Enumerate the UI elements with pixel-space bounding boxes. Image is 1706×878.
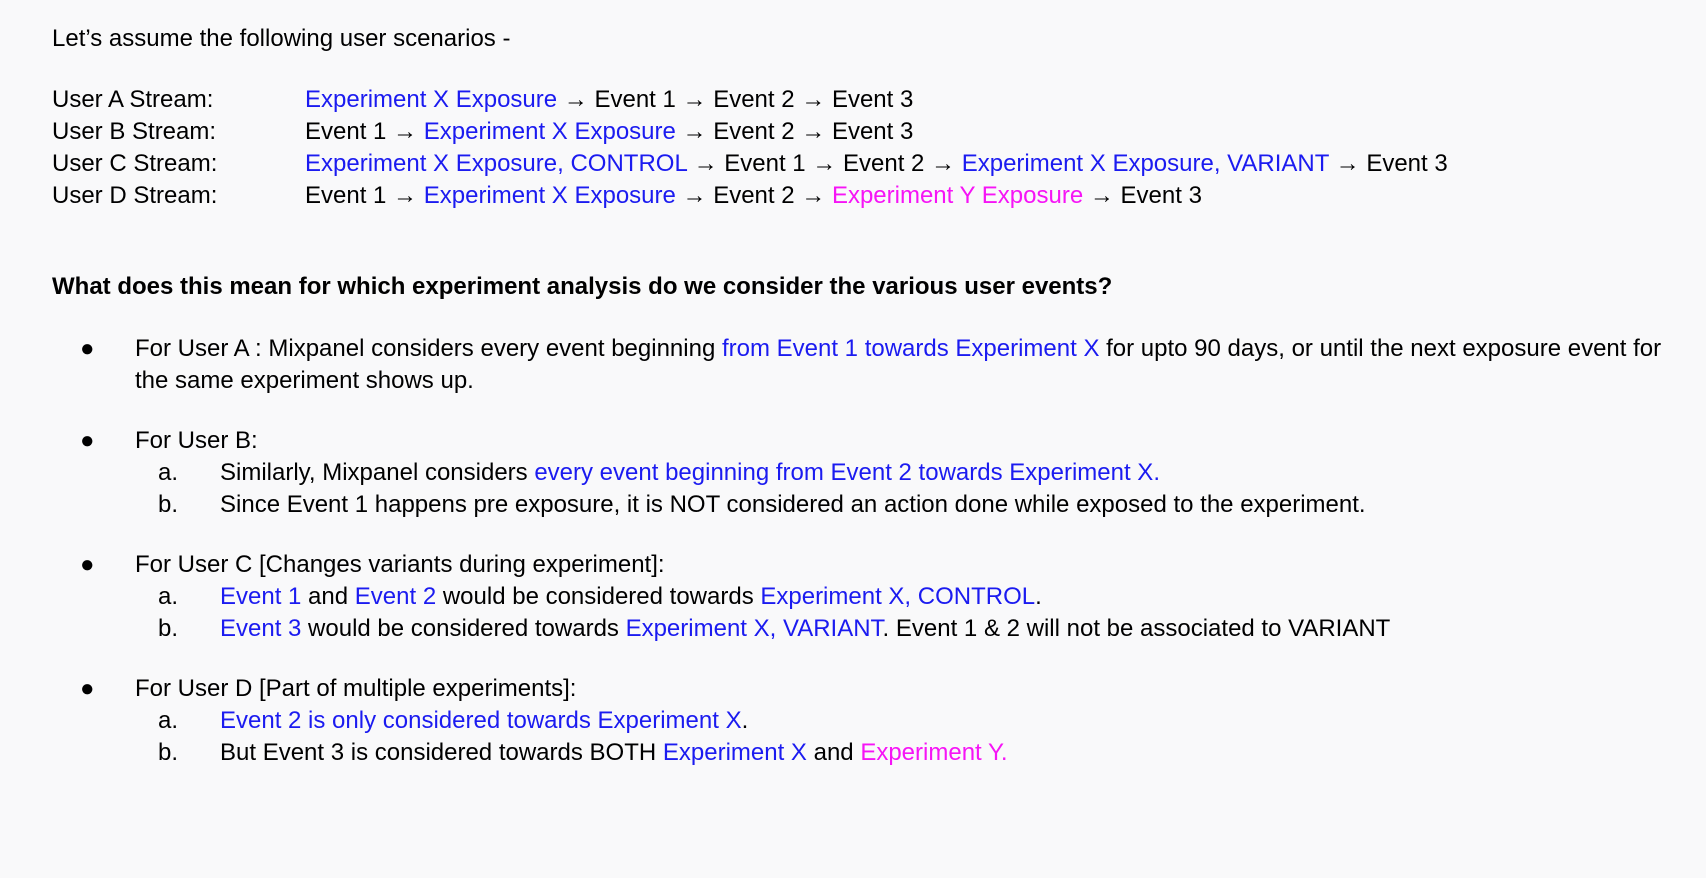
stream-1-segment-0: Event 1 (305, 118, 386, 145)
arrow-separator: → (1329, 150, 1366, 177)
analysis-bullet-list: ●For User A : Mixpanel considers every e… (52, 333, 1682, 769)
bullet-dot-icon: ● (80, 425, 95, 457)
bullet-1-sub-1-segment-0: Since Event 1 happens pre exposure, it i… (220, 491, 1366, 518)
arrow-separator: → (687, 150, 724, 177)
bullet-text-line: ●For User D [Part of multiple experiment… (52, 673, 1682, 705)
bullet-2-segment-0: For User C [Changes variants during expe… (135, 551, 665, 578)
analysis-sub-item: a.Event 2 is only considered towards Exp… (52, 705, 1682, 737)
user-stream-label: User A Stream: (52, 84, 305, 116)
stream-3-segment-0: Event 1 (305, 182, 386, 209)
sub-item-marker: a. (158, 581, 198, 613)
bullet-2-sub-1-segment-3: . Event 1 & 2 will not be associated to … (883, 615, 1391, 642)
arrow-separator: → (676, 182, 713, 209)
bullet-dot-icon: ● (80, 549, 95, 581)
bullet-3-sub-0-segment-1: . (742, 707, 749, 734)
stream-0-segment-4: Event 2 (713, 86, 794, 113)
bullet-3-sub-1-segment-0: But Event 3 is considered towards BOTH (220, 739, 663, 766)
analysis-sub-item: b.Since Event 1 happens pre exposure, it… (52, 489, 1682, 521)
sub-item-marker: b. (158, 613, 198, 645)
bullet-2-sub-1-segment-1: would be considered towards (301, 615, 625, 642)
intro-paragraph: Let’s assume the following user scenario… (52, 22, 1682, 56)
analysis-bullet-item: ●For User D [Part of multiple experiment… (52, 673, 1682, 769)
bullet-1-sub-0-segment-0: Similarly, Mixpanel considers (220, 459, 534, 486)
stream-1-segment-6: Event 3 (832, 118, 913, 145)
stream-2-segment-6: Experiment X Exposure, VARIANT (962, 150, 1329, 177)
stream-0-segment-2: Event 1 (594, 86, 675, 113)
user-stream-row: User B Stream:Event 1 → Experiment X Exp… (52, 116, 1448, 148)
user-stream-sequence: Event 1 → Experiment X Exposure → Event … (305, 116, 1448, 148)
arrow-separator: → (1083, 182, 1120, 209)
bullet-text-line: ●For User C [Changes variants during exp… (52, 549, 1682, 581)
bullet-3-sub-1-segment-3: Experiment Y. (860, 739, 1007, 766)
stream-3-segment-2: Experiment X Exposure (424, 182, 676, 209)
bullet-dot-icon: ● (80, 673, 95, 705)
analysis-sub-item: a.Similarly, Mixpanel considers every ev… (52, 457, 1682, 489)
sub-item-marker: a. (158, 705, 198, 737)
bullet-3-sub-0-segment-0: Event 2 is only considered towards Exper… (220, 707, 742, 734)
user-stream-label: User B Stream: (52, 116, 305, 148)
bullet-2-sub-0-segment-0: Event 1 (220, 583, 301, 610)
bullet-text-line: ●For User A : Mixpanel considers every e… (52, 333, 1682, 397)
bullet-3-segment-0: For User D [Part of multiple experiments… (135, 675, 576, 702)
bullet-2-sub-0-segment-2: Event 2 (355, 583, 436, 610)
arrow-separator: → (806, 150, 843, 177)
arrow-separator: → (386, 182, 423, 209)
user-stream-sequence: Experiment X Exposure, CONTROL → Event 1… (305, 148, 1448, 180)
analysis-sub-list: a.Event 1 and Event 2 would be considere… (52, 581, 1682, 645)
sub-item-marker: b. (158, 737, 198, 769)
analysis-sub-item: a.Event 1 and Event 2 would be considere… (52, 581, 1682, 613)
arrow-separator: → (795, 182, 832, 209)
user-stream-label: User C Stream: (52, 148, 305, 180)
analysis-bullet-item: ●For User C [Changes variants during exp… (52, 549, 1682, 645)
analysis-bullet-item: ●For User B:a.Similarly, Mixpanel consid… (52, 425, 1682, 521)
sub-item-marker: a. (158, 457, 198, 489)
arrow-separator: → (795, 86, 832, 113)
stream-2-segment-0: Experiment X Exposure, CONTROL (305, 150, 687, 177)
bullet-3-sub-1-segment-1: Experiment X (663, 739, 807, 766)
user-stream-sequence: Event 1 → Experiment X Exposure → Event … (305, 180, 1448, 212)
stream-3-segment-6: Experiment Y Exposure (832, 182, 1083, 209)
bullet-2-sub-0-segment-1: and (301, 583, 354, 610)
bullet-1-sub-0-segment-1: every event beginning from Event 2 towar… (534, 459, 1160, 486)
arrow-separator: → (557, 86, 594, 113)
user-stream-sequence: Experiment X Exposure → Event 1 → Event … (305, 84, 1448, 116)
arrow-separator: → (924, 150, 961, 177)
arrow-separator: → (676, 86, 713, 113)
user-stream-label: User D Stream: (52, 180, 305, 212)
stream-1-segment-2: Experiment X Exposure (424, 118, 676, 145)
bullet-2-sub-0-segment-5: . (1035, 583, 1042, 610)
bullet-1-segment-0: For User B: (135, 427, 258, 454)
analysis-sub-list: a.Similarly, Mixpanel considers every ev… (52, 457, 1682, 521)
analysis-sub-list: a.Event 2 is only considered towards Exp… (52, 705, 1682, 769)
analysis-sub-item: b.Event 3 would be considered towards Ex… (52, 613, 1682, 645)
bullet-2-sub-1-segment-2: Experiment X, VARIANT (626, 615, 883, 642)
analysis-sub-item: b.But Event 3 is considered towards BOTH… (52, 737, 1682, 769)
stream-2-segment-8: Event 3 (1366, 150, 1447, 177)
bullet-2-sub-0-segment-3: would be considered towards (436, 583, 760, 610)
bullet-2-sub-1-segment-0: Event 3 (220, 615, 301, 642)
arrow-separator: → (676, 118, 713, 145)
stream-1-segment-4: Event 2 (713, 118, 794, 145)
bullet-0-segment-0: For User A : Mixpanel considers every ev… (135, 335, 722, 362)
stream-2-segment-2: Event 1 (724, 150, 805, 177)
arrow-separator: → (795, 118, 832, 145)
sub-item-marker: b. (158, 489, 198, 521)
stream-2-segment-4: Event 2 (843, 150, 924, 177)
stream-3-segment-4: Event 2 (713, 182, 794, 209)
stream-0-segment-6: Event 3 (832, 86, 913, 113)
user-stream-row: User A Stream:Experiment X Exposure → Ev… (52, 84, 1448, 116)
analysis-bullet-item: ●For User A : Mixpanel considers every e… (52, 333, 1682, 397)
user-stream-row: User C Stream:Experiment X Exposure, CON… (52, 148, 1448, 180)
bullet-0-segment-1: from Event 1 towards Experiment X (722, 335, 1099, 362)
stream-3-segment-8: Event 3 (1121, 182, 1202, 209)
bullet-dot-icon: ● (80, 333, 95, 365)
bullet-2-sub-0-segment-4: Experiment X, CONTROL (760, 583, 1035, 610)
user-stream-rows: User A Stream:Experiment X Exposure → Ev… (52, 84, 1448, 212)
bullet-3-sub-1-segment-2: and (807, 739, 860, 766)
stream-0-segment-0: Experiment X Exposure (305, 86, 557, 113)
arrow-separator: → (386, 118, 423, 145)
bullet-text-line: ●For User B: (52, 425, 1682, 457)
user-stream-row: User D Stream:Event 1 → Experiment X Exp… (52, 180, 1448, 212)
section-question-heading: What does this mean for which experiment… (52, 271, 1682, 303)
document-page: Let’s assume the following user scenario… (0, 0, 1706, 878)
user-stream-list: User A Stream:Experiment X Exposure → Ev… (52, 84, 1448, 212)
